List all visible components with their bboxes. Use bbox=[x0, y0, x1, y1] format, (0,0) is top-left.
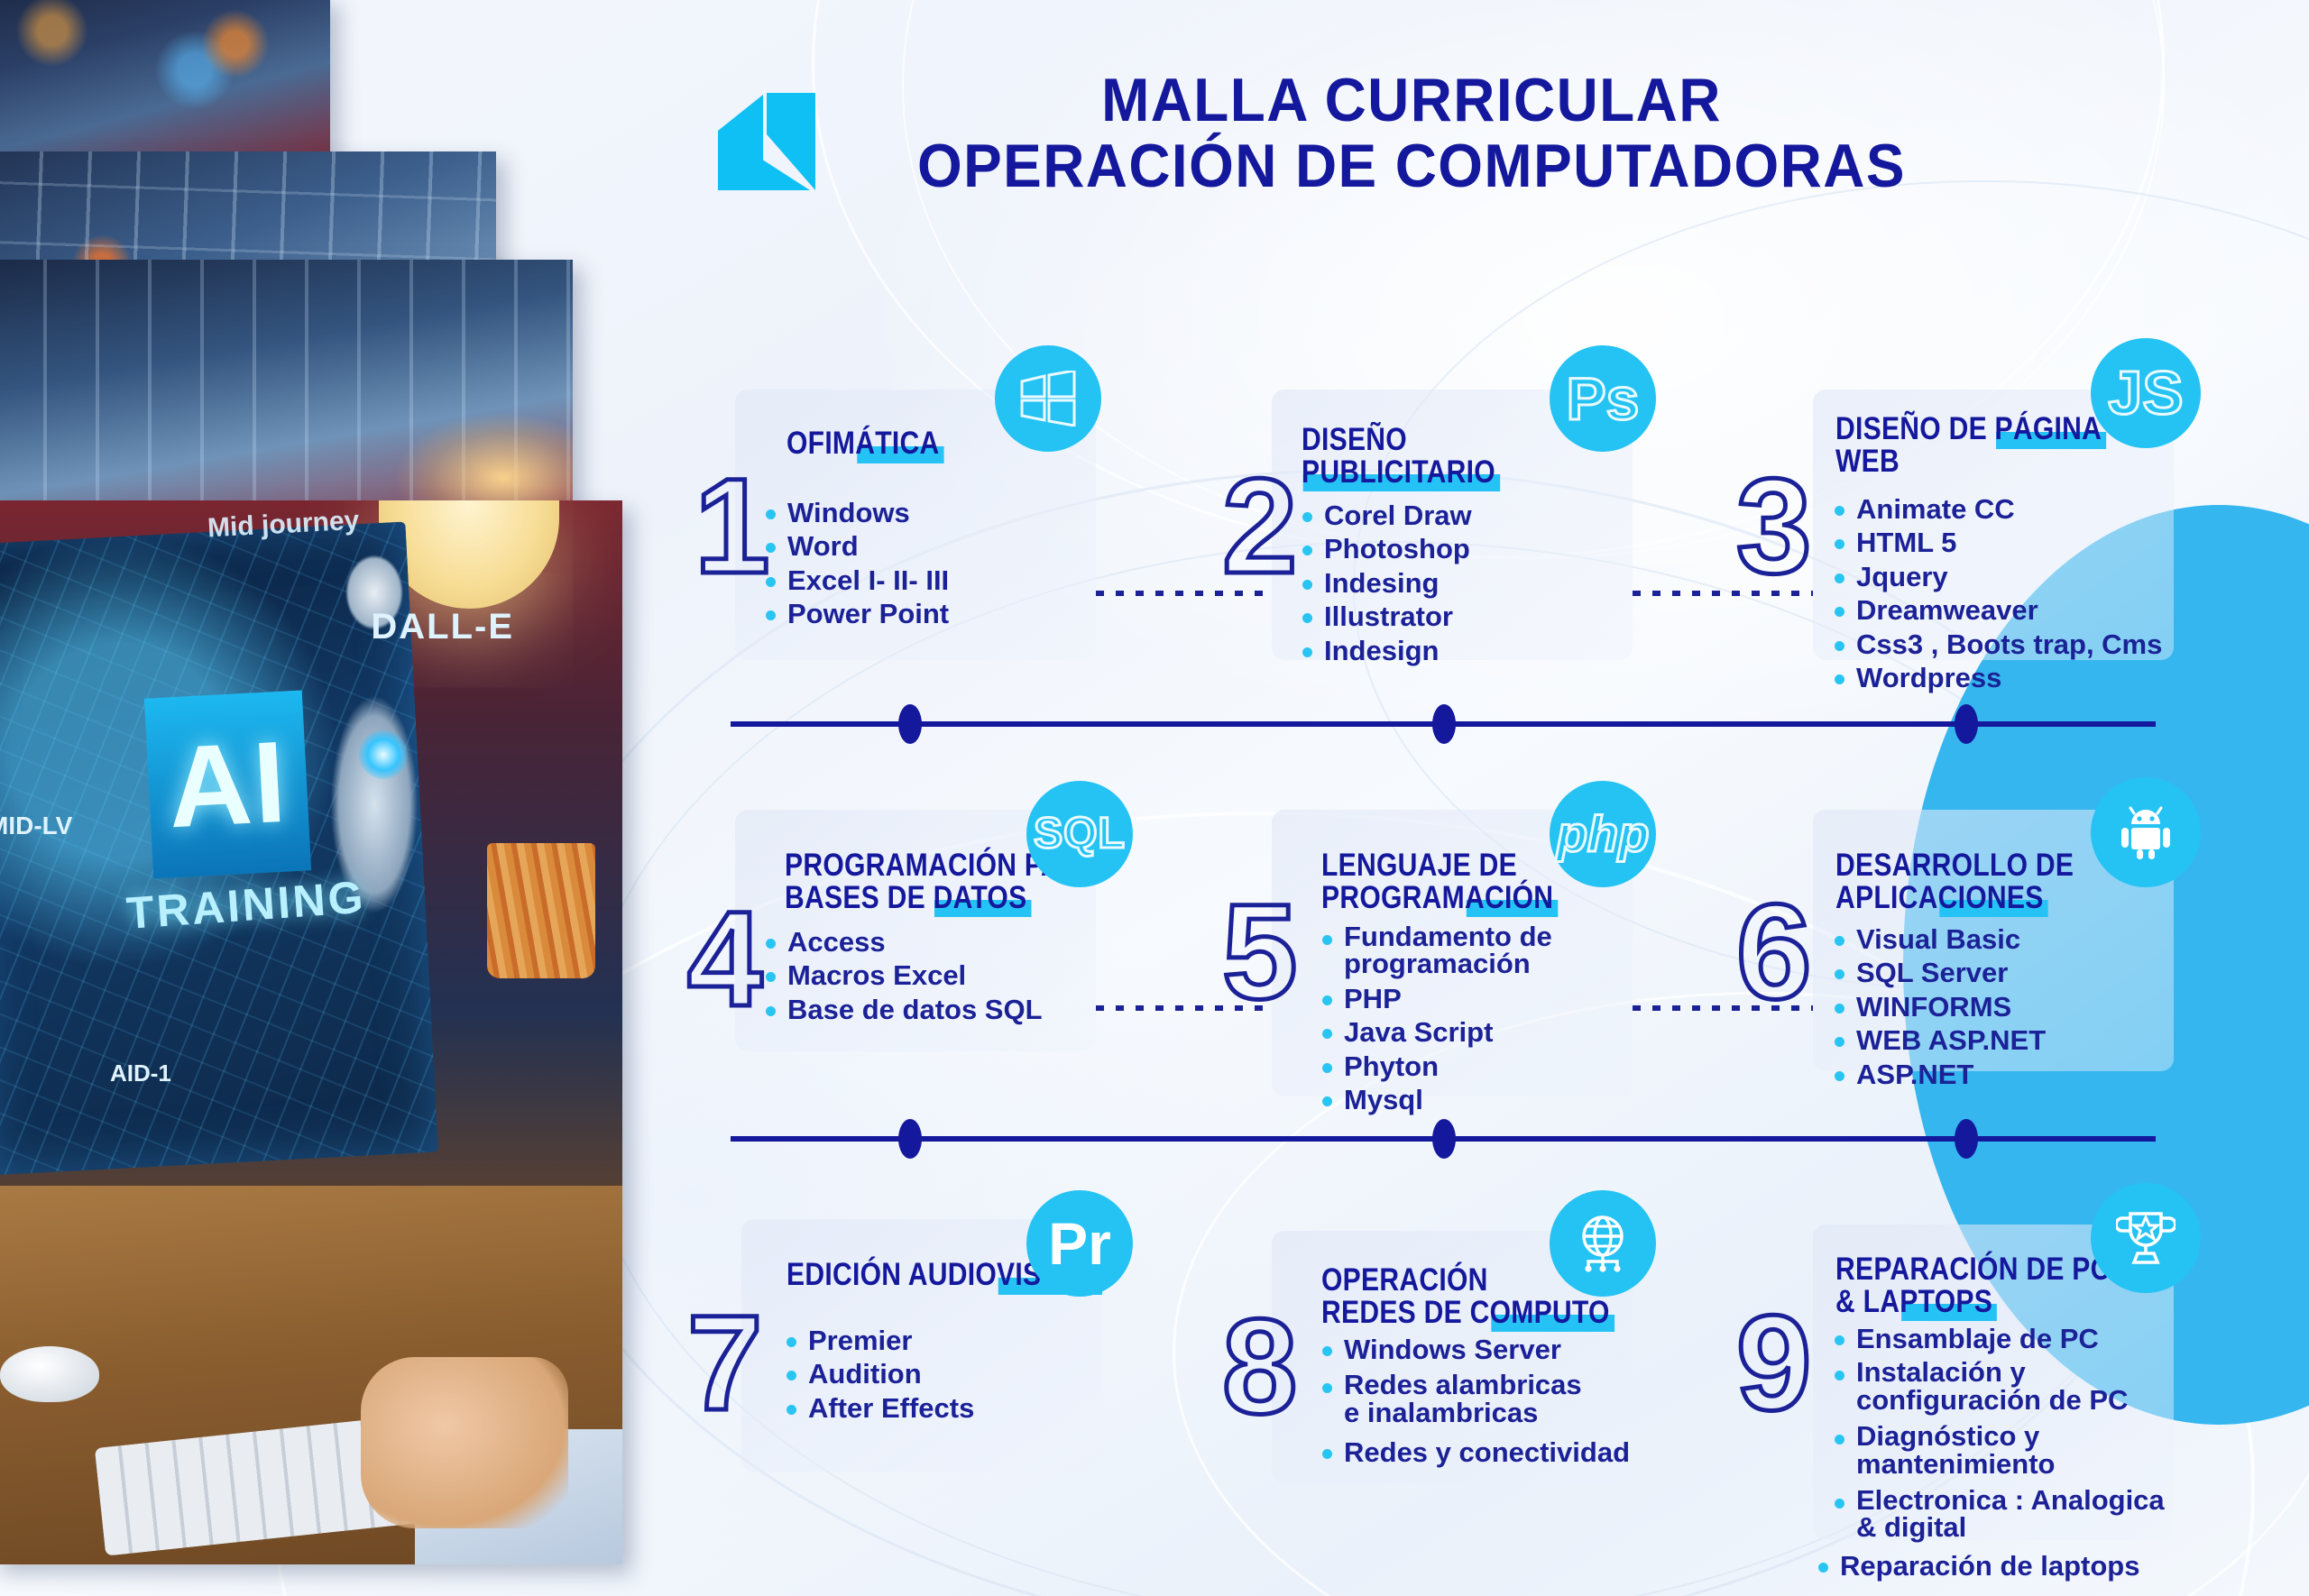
page-header: MALLA CURRICULAR OPERACIÓN DE COMPUTADOR… bbox=[704, 68, 1937, 200]
module-items-7: Premier Audition After Effects bbox=[783, 1325, 974, 1426]
list-item: Premier bbox=[783, 1325, 974, 1355]
module-items-5: Fundamento de programación PHP Java Scri… bbox=[1319, 923, 1552, 1119]
android-icon bbox=[2091, 777, 2201, 887]
list-item: Css3 , Boots trap, Cms bbox=[1831, 629, 2162, 659]
module-title-6-plain: DESARROLLO DE bbox=[1835, 848, 2074, 883]
module-title-1-plain: OFIM bbox=[787, 426, 855, 461]
label-dalle: DALL-E bbox=[371, 607, 514, 647]
photo-ai-training-desk: AI TRAINING Mid journey DALL-E MID-LV AI… bbox=[0, 500, 622, 1564]
photoshop-label: Ps bbox=[1567, 369, 1640, 428]
module-title-9: REPARACIÓN DE PC & LAPTOPS bbox=[1835, 1253, 2111, 1317]
list-item: Access bbox=[762, 927, 1043, 957]
module-number-3: 3 bbox=[1736, 458, 1811, 593]
list-item: Wordpress bbox=[1831, 663, 2162, 693]
list-item: Excel I- II- III bbox=[762, 565, 949, 595]
module-title-8-plain: OPERACIÓN bbox=[1321, 1262, 1488, 1298]
module-number-7: 7 bbox=[687, 1295, 762, 1430]
module-number-1: 1 bbox=[695, 458, 769, 593]
row-divider-2-dot-2 bbox=[1432, 1119, 1456, 1159]
trophy-icon bbox=[2091, 1183, 2201, 1293]
row-divider-2-dot-3 bbox=[1955, 1119, 1978, 1159]
label-mid-lv: MID-LV bbox=[0, 812, 72, 840]
module-title-2-line2: PUBLICITARIO bbox=[1302, 456, 1495, 489]
list-item: Phyton bbox=[1319, 1051, 1552, 1081]
module-number-9: 9 bbox=[1736, 1295, 1811, 1430]
photoshop-icon: Ps bbox=[1550, 345, 1656, 452]
module-title-8-line2-plain: REDES DE C bbox=[1321, 1295, 1490, 1330]
module-title-1-highlight: ÁTICA bbox=[855, 427, 939, 460]
list-item: Instalación y configuración de PC bbox=[1831, 1359, 2165, 1414]
page-title: MALLA CURRICULAR OPERACIÓN DE COMPUTADOR… bbox=[886, 68, 1937, 200]
list-item: HTML 5 bbox=[1831, 527, 2162, 557]
module-title-8-highlight: OMPUTO bbox=[1490, 1297, 1610, 1329]
list-item: PHP bbox=[1319, 984, 1552, 1014]
module-title-5-highlight: ACIÓN bbox=[1465, 882, 1553, 914]
module-items-9: Ensamblaje de PC Instalación y configura… bbox=[1831, 1324, 2165, 1591]
module-title-4-highlight: DATOS bbox=[934, 882, 1027, 914]
module-title-4-line2-plain: BASES DE bbox=[785, 880, 934, 915]
module-title-3-highlight: PÁGINA bbox=[1995, 413, 2102, 445]
list-item: Reparación de laptops bbox=[1815, 1551, 2165, 1581]
module-title-6-line2-plain: APLICA bbox=[1835, 880, 1938, 915]
module-title-3-plain: DISEÑO DE bbox=[1835, 411, 1995, 446]
list-item: Ensamblaje de PC bbox=[1831, 1324, 2165, 1353]
list-item: Indesign bbox=[1299, 636, 1472, 665]
module-items-1: Windows Word Excel I- II- III Power Poin… bbox=[762, 498, 949, 633]
list-item: WEB ASP.NET bbox=[1831, 1025, 2046, 1055]
list-item: Indesing bbox=[1299, 568, 1472, 598]
module-title-5-plain: LENGUAJE DE bbox=[1321, 848, 1517, 883]
list-item: Corel Draw bbox=[1299, 500, 1472, 530]
module-number-8: 8 bbox=[1222, 1298, 1297, 1434]
list-item: Illustrator bbox=[1299, 601, 1472, 631]
module-title-2: DISEÑO PUBLICITARIO bbox=[1302, 424, 1495, 488]
module-number-4: 4 bbox=[687, 891, 762, 1026]
list-item: Fundamento de programación bbox=[1319, 923, 1552, 978]
title-line-1: MALLA CURRICULAR bbox=[917, 68, 1906, 133]
module-title-1: OFIMÁTICA bbox=[787, 427, 940, 460]
list-item: Diagnóstico y mantenimiento bbox=[1831, 1423, 2165, 1478]
list-item: Redes y conectividad bbox=[1319, 1437, 1630, 1467]
photo-workspace-lamp bbox=[0, 260, 573, 539]
module-number-6: 6 bbox=[1736, 884, 1811, 1019]
list-item: After Effects bbox=[783, 1393, 974, 1423]
list-item: Visual Basic bbox=[1831, 924, 2046, 954]
javascript-icon: JS bbox=[2091, 338, 2201, 448]
label-midjourney: Mid journey bbox=[207, 506, 360, 545]
list-item: WINFORMS bbox=[1831, 992, 2046, 1022]
php-label: php bbox=[1557, 809, 1650, 859]
row-divider-1-dot-2 bbox=[1432, 704, 1456, 744]
photo-labels: Mid journey DALL-E MID-LV AID-1 bbox=[0, 500, 622, 1564]
premiere-label: Pr bbox=[1048, 1214, 1111, 1273]
row-divider-1-dot-3 bbox=[1955, 704, 1978, 744]
list-item: Animate CC bbox=[1831, 494, 2162, 524]
list-item: Photoshop bbox=[1299, 534, 1472, 564]
row-divider-2-dot-1 bbox=[898, 1119, 922, 1159]
network-globe-icon bbox=[1550, 1190, 1656, 1297]
module-title-3-line2: WEB bbox=[1835, 444, 1900, 479]
module-title-6-highlight: CIONES bbox=[1938, 882, 2044, 914]
list-item: Macros Excel bbox=[762, 960, 1043, 990]
list-item: ASP.NET bbox=[1831, 1059, 2046, 1089]
infographic-root: AI TRAINING Mid journey DALL-E MID-LV AI… bbox=[0, 0, 2309, 1596]
nova-n-logo bbox=[704, 84, 839, 199]
module-title-3: DISEÑO DE PÁGINA WEB bbox=[1835, 413, 2102, 477]
module-number-2: 2 bbox=[1222, 458, 1297, 593]
module-title-5: LENGUAJE DE PROGRAMACIÓN bbox=[1321, 849, 1553, 913]
module-items-8: Windows Server Redes alambricas e inalam… bbox=[1319, 1335, 1630, 1479]
photo-office-night bbox=[0, 0, 330, 159]
row-divider-1-dot-1 bbox=[898, 704, 922, 744]
module-title-7-plain: EDICIÓN AUDIO bbox=[787, 1257, 997, 1292]
module-items-6: Visual Basic SQL Server WINFORMS WEB ASP… bbox=[1831, 924, 2046, 1093]
module-items-3: Animate CC HTML 5 Jquery Dreamweaver Css… bbox=[1831, 494, 2162, 697]
module-items-4: Access Macros Excel Base de datos SQL bbox=[762, 927, 1043, 1028]
module-title-9-line2-plain: & LA bbox=[1835, 1284, 1900, 1319]
list-item: SQL Server bbox=[1831, 958, 2046, 987]
premiere-icon: Pr bbox=[1026, 1190, 1133, 1297]
sql-label: SQL bbox=[1034, 812, 1126, 856]
list-item: Java Script bbox=[1319, 1017, 1552, 1047]
windows-icon bbox=[995, 345, 1101, 452]
sql-icon: SQL bbox=[1026, 781, 1133, 887]
module-title-9-plain: REPARACIÓN DE PC bbox=[1835, 1252, 2111, 1287]
module-title-2-plain: DISEÑO bbox=[1302, 422, 1407, 457]
title-line-2: OPERACIÓN DE COMPUTADORAS bbox=[917, 133, 1906, 199]
list-item: Windows bbox=[762, 498, 949, 527]
label-aid: AID-1 bbox=[110, 1059, 171, 1087]
module-items-2: Corel Draw Photoshop Indesing Illustrato… bbox=[1299, 500, 1472, 669]
javascript-label: JS bbox=[2108, 362, 2183, 424]
list-item: Audition bbox=[783, 1359, 974, 1389]
list-item: Windows Server bbox=[1319, 1335, 1630, 1364]
list-item: Redes alambricas e inalambricas bbox=[1319, 1371, 1630, 1426]
list-item: Word bbox=[762, 531, 949, 561]
module-title-5-line2-plain: PROGRAM bbox=[1321, 880, 1465, 915]
list-item: Electronica : Analogica & digital bbox=[1831, 1487, 2165, 1542]
module-number-5: 5 bbox=[1222, 884, 1297, 1019]
list-item: Base de datos SQL bbox=[762, 995, 1043, 1024]
list-item: Jquery bbox=[1831, 562, 2162, 592]
module-title-6: DESARROLLO DE APLICACIONES bbox=[1835, 849, 2074, 913]
list-item: Power Point bbox=[762, 599, 949, 628]
list-item: Dreamweaver bbox=[1831, 595, 2162, 625]
list-item: Mysql bbox=[1319, 1085, 1552, 1114]
module-title-9-highlight: PTOPS bbox=[1900, 1286, 1992, 1318]
php-icon: php bbox=[1550, 781, 1656, 887]
